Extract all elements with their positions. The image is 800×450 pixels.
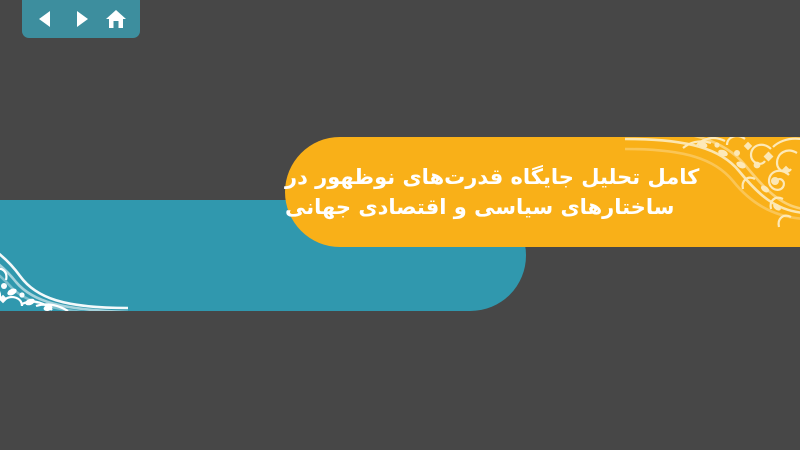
navigation-toolbar [22,0,140,38]
forward-icon [71,9,91,29]
teal-arabesque-ornament-icon [0,200,130,311]
slide-title-line-1: کامل تحلیل جایگاه قدرت‌های نوظهور در [285,162,699,192]
slide-canvas: کامل تحلیل جایگاه قدرت‌های نوظهور در ساخ… [0,0,800,450]
slide-title-line-2: ساختارهای سیاسی و اقتصادی جهانی [285,192,674,222]
slide-title: کامل تحلیل جایگاه قدرت‌های نوظهور در ساخ… [285,137,800,247]
forward-button[interactable] [67,6,95,32]
back-icon [36,9,56,29]
home-button[interactable] [102,6,130,32]
back-button[interactable] [32,6,60,32]
home-icon [105,9,127,29]
